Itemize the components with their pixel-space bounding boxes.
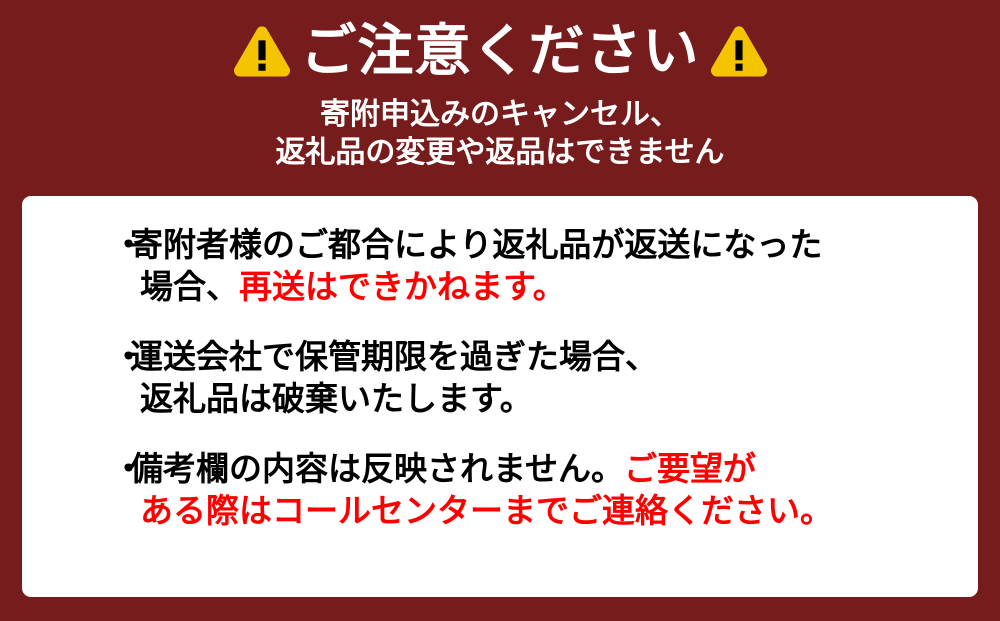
notice-item: ・ 備考欄の内容は反映されません。ご要望が ある際はコールセンターまでご連絡くだ…: [130, 448, 948, 532]
notice-card: ・ 寄附者様のご都合により返礼品が返送になった 場合、再送はできかねます。 ・ …: [22, 196, 978, 597]
notice-text-red: 再送はできかねます。: [239, 268, 566, 305]
title-row: ご注意ください: [0, 14, 1000, 88]
banner-header: ご注意ください 寄附申込みのキャンセル、 返礼品の変更や返品はできません: [0, 0, 1000, 190]
bullet-marker: ・: [112, 448, 145, 490]
subtitle-line-2: 返礼品の変更や返品はできません: [0, 134, 1000, 172]
warning-banner: ご注意ください 寄附申込みのキャンセル、 返礼品の変更や返品はできません ・ 寄…: [0, 0, 1000, 621]
notice-line-1: 運送会社で保管期限を過ぎた場合、: [130, 336, 948, 378]
notice-line-2: 返礼品は破棄いたします。: [130, 378, 948, 420]
warning-triangle-icon: [708, 20, 770, 82]
notice-item: ・ 寄附者様のご都合により返礼品が返送になった 場合、再送はできかねます。: [130, 224, 948, 308]
notice-line-2: ある際はコールセンターまでご連絡ください。: [130, 490, 948, 532]
page-title: ご注意ください: [301, 20, 700, 82]
notice-line-1: 備考欄の内容は反映されません。ご要望が: [130, 448, 948, 490]
bullet-marker: ・: [112, 224, 145, 266]
notice-text-red: ご要望が: [624, 450, 756, 487]
notice-text-black: 場合、: [140, 268, 239, 305]
banner-subtitle: 寄附申込みのキャンセル、 返礼品の変更や返品はできません: [0, 96, 1000, 172]
notice-item: ・ 運送会社で保管期限を過ぎた場合、 返礼品は破棄いたします。: [130, 336, 948, 420]
subtitle-line-1: 寄附申込みのキャンセル、: [0, 96, 1000, 134]
notice-line-1: 寄附者様のご都合により返礼品が返送になった: [130, 224, 948, 266]
bullet-marker: ・: [112, 336, 145, 378]
notice-line-2: 場合、再送はできかねます。: [130, 266, 948, 308]
notice-text-black: 備考欄の内容は反映されません。: [130, 450, 624, 487]
warning-triangle-icon: [231, 20, 293, 82]
